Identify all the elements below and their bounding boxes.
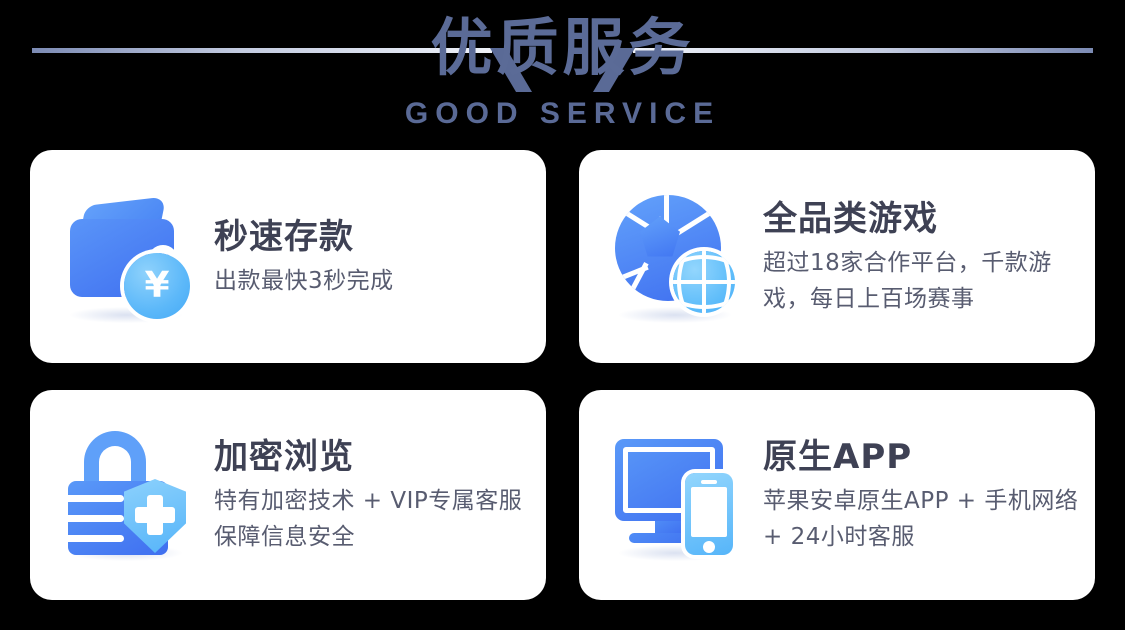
feature-card-deposit[interactable]: ¥ 秒速存款 出款最快3秒完成 <box>30 150 546 363</box>
basketball-icon <box>673 251 735 313</box>
feature-card-native-app[interactable]: 原生APP 苹果安卓原生APP + 手机网络 + 24小时客服 <box>579 390 1095 600</box>
lock-stripe <box>68 495 124 502</box>
card-text: 加密浏览 特有加密技术 + VIP专属客服保障信息安全 <box>208 435 546 555</box>
soccer-basketball-icon <box>607 187 757 327</box>
basketball-arc-top <box>673 255 735 309</box>
lock-stripe <box>68 535 124 542</box>
feature-card-encryption[interactable]: 加密浏览 特有加密技术 + VIP专属客服保障信息安全 <box>30 390 546 600</box>
card-title: 原生APP <box>763 435 1085 479</box>
yen-coin-icon: ¥ <box>124 253 190 319</box>
card-title: 加密浏览 <box>214 435 536 479</box>
card-text: 秒速存款 出款最快3秒完成 <box>208 215 404 299</box>
promo-banner: 优质服务 GOOD SERVICE ¥ 秒速存款 出款最快3秒完成 <box>0 0 1125 630</box>
card-title: 全品类游戏 <box>763 197 1085 241</box>
card-text: 原生APP 苹果安卓原生APP + 手机网络 + 24小时客服 <box>757 435 1095 555</box>
page-title: 优质服务 <box>0 8 1125 88</box>
wallet-coin-icon: ¥ <box>58 187 208 327</box>
card-description: 超过18家合作平台，千款游戏，每日上百场赛事 <box>763 245 1085 317</box>
card-description: 出款最快3秒完成 <box>214 263 394 299</box>
card-text: 全品类游戏 超过18家合作平台，千款游戏，每日上百场赛事 <box>757 197 1095 317</box>
phone-speaker <box>701 480 717 484</box>
card-description: 特有加密技术 + VIP专属客服保障信息安全 <box>214 483 536 555</box>
card-title: 秒速存款 <box>214 215 394 259</box>
feature-card-grid: ¥ 秒速存款 出款最快3秒完成 <box>30 150 1095 600</box>
page-subtitle: GOOD SERVICE <box>0 96 1125 132</box>
lock-shield-icon <box>58 425 208 565</box>
monitor-phone-icon <box>607 425 757 565</box>
phone-screen <box>691 487 727 537</box>
phone-home-button <box>703 541 715 553</box>
card-description: 苹果安卓原生APP + 手机网络 + 24小时客服 <box>763 483 1085 555</box>
yen-symbol: ¥ <box>124 253 190 319</box>
section-header: 优质服务 GOOD SERVICE <box>0 0 1125 145</box>
phone-icon <box>685 473 733 555</box>
feature-card-games[interactable]: 全品类游戏 超过18家合作平台，千款游戏，每日上百场赛事 <box>579 150 1095 363</box>
cross-icon <box>135 507 175 523</box>
lock-stripe <box>68 515 124 522</box>
